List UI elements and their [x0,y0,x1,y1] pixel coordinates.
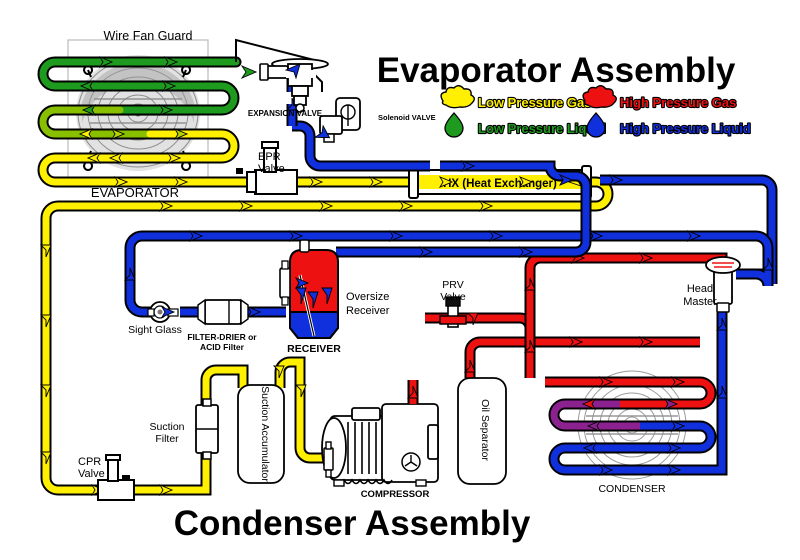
solenoid-valve-label: Solenoid VALVE [378,113,436,122]
legend-label-low-pressure-gas: Low Pressure Gas [478,95,591,110]
prv-valve-label-line2: Valve [440,291,466,303]
suction-filter-label-line2: Filter [155,433,179,445]
head-master-label-line1: Head [687,283,713,295]
legend-label-high-pressure-gas: High Pressure Gas [620,95,736,110]
evaporator-label: EVAPORATOR [91,185,179,200]
oversize-receiver-label-line2: Receiver [346,305,390,317]
suction-accumulator: Suction Accumulator [238,385,284,483]
top-title: Evaporator Assembly [377,51,736,90]
oversize-receiver-label-line1: Oversize [346,291,389,303]
receiver-label: RECEIVER [287,343,341,355]
oil-separator: Oil Separator [458,378,506,484]
cpr-valve-label-line2: Valve [78,468,105,480]
suction-filter-label-line1: Suction [149,421,184,433]
heat-exchanger-label: HX (Heat Exchanger) [443,178,557,190]
diagram-canvas: HX (Heat Exchanger) EPR Valve CPR [0,0,800,560]
filter-drier-label-line2: ACID Filter [200,342,245,352]
filter-drier-label-line1: FILTER-DRIER or [187,332,257,342]
legend-label-high-pressure-liquid: High Pressure Liquid [620,121,751,136]
prv-valve-label-line1: PRV [442,279,463,291]
oil-separator-label: Oil Separator [479,399,491,461]
expansion-valve-label: EXPANSION VALVE [248,109,323,118]
refrigeration-cycle-diagram: HX (Heat Exchanger) EPR Valve CPR [0,0,800,560]
compressor-label: COMPRESSOR [361,489,430,500]
epr-valve-label-line1: EPR [258,151,281,163]
head-master-label-line2: Master [683,296,717,308]
bottom-title: Condenser Assembly [174,504,531,543]
cpr-valve-label-line1: CPR [78,456,101,468]
condenser-label: CONDENSER [598,483,666,495]
sight-glass-label: Sight Glass [128,324,182,336]
epr-valve-label-line2: Valve [258,163,285,175]
wire-fan-guard-label: Wire Fan Guard [104,29,193,43]
suction-accumulator-label: Suction Accumulator [259,386,271,482]
